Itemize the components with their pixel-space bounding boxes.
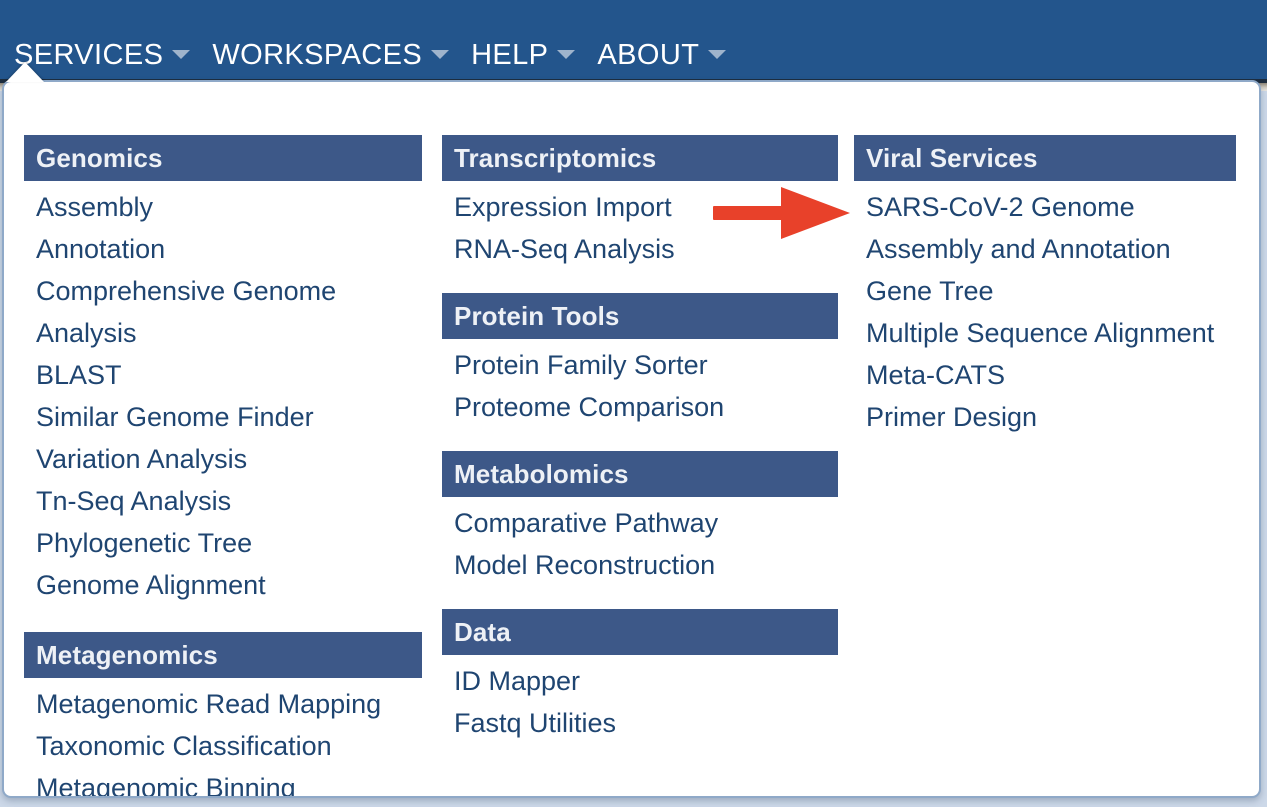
service-group-metagenomics-title: Metagenomics	[24, 632, 422, 678]
service-link-assembly[interactable]: Assembly	[24, 186, 422, 228]
service-link-rna-seq-analysis[interactable]: RNA-Seq Analysis	[442, 228, 838, 270]
services-column-3: Viral Services SARS-CoV-2 Genome Assembl…	[854, 135, 1236, 464]
service-link-protein-family-sorter[interactable]: Protein Family Sorter	[442, 344, 838, 386]
service-link-fastq-utilities[interactable]: Fastq Utilities	[442, 702, 838, 744]
service-link-analysis[interactable]: Analysis	[24, 312, 422, 354]
service-group-transcriptomics-items: Expression Import RNA-Seq Analysis	[442, 181, 838, 270]
service-group-genomics: Genomics Assembly Annotation Comprehensi…	[24, 135, 422, 606]
services-columns: Genomics Assembly Annotation Comprehensi…	[4, 82, 1259, 796]
nav-item-help[interactable]: HELP	[463, 41, 589, 70]
service-link-metagenomic-read-mapping[interactable]: Metagenomic Read Mapping	[24, 683, 422, 725]
top-navigation-bar: SERVICES WORKSPACES HELP ABOUT	[0, 0, 1267, 79]
nav-item-help-label: HELP	[471, 41, 548, 70]
chevron-down-icon	[431, 50, 449, 59]
service-link-proteome-comparison[interactable]: Proteome Comparison	[442, 386, 838, 428]
service-link-metagenomic-binning[interactable]: Metagenomic Binning	[24, 767, 422, 798]
nav-item-about-label: ABOUT	[597, 41, 699, 70]
service-link-phylogenetic-tree[interactable]: Phylogenetic Tree	[24, 522, 422, 564]
service-group-transcriptomics-title: Transcriptomics	[442, 135, 838, 181]
service-group-metagenomics: Metagenomics Metagenomic Read Mapping Ta…	[24, 632, 422, 798]
service-group-transcriptomics: Transcriptomics Expression Import RNA-Se…	[442, 135, 838, 270]
service-group-data-items: ID Mapper Fastq Utilities	[442, 655, 838, 744]
service-link-sars-cov-2-genome[interactable]: SARS-CoV-2 Genome	[854, 186, 1236, 228]
nav-item-list: SERVICES WORKSPACES HELP ABOUT	[0, 41, 740, 70]
service-link-annotation[interactable]: Annotation	[24, 228, 422, 270]
services-column-1: Genomics Assembly Annotation Comprehensi…	[24, 135, 422, 798]
service-link-variation-analysis[interactable]: Variation Analysis	[24, 438, 422, 480]
service-group-genomics-title: Genomics	[24, 135, 422, 181]
nav-item-about[interactable]: ABOUT	[589, 41, 740, 70]
chevron-down-icon	[557, 50, 575, 59]
chevron-down-icon	[708, 50, 726, 59]
service-link-taxonomic-classification[interactable]: Taxonomic Classification	[24, 725, 422, 767]
service-link-genome-alignment[interactable]: Genome Alignment	[24, 564, 422, 606]
service-group-protein-tools-items: Protein Family Sorter Proteome Compariso…	[442, 339, 838, 428]
service-group-viral-services-items: SARS-CoV-2 Genome Assembly and Annotatio…	[854, 181, 1236, 438]
service-group-metagenomics-items: Metagenomic Read Mapping Taxonomic Class…	[24, 678, 422, 798]
service-group-metabolomics-items: Comparative Pathway Model Reconstruction	[442, 497, 838, 586]
service-link-expression-import[interactable]: Expression Import	[442, 186, 838, 228]
chevron-down-icon	[172, 50, 190, 59]
service-link-gene-tree[interactable]: Gene Tree	[854, 270, 1236, 312]
service-group-data-title: Data	[442, 609, 838, 655]
service-link-comparative-pathway[interactable]: Comparative Pathway	[442, 502, 838, 544]
service-link-tn-seq-analysis[interactable]: Tn-Seq Analysis	[24, 480, 422, 522]
service-group-metabolomics-title: Metabolomics	[442, 451, 838, 497]
service-group-metabolomics: Metabolomics Comparative Pathway Model R…	[442, 451, 838, 586]
services-dropdown-panel: Genomics Assembly Annotation Comprehensi…	[2, 80, 1261, 798]
service-link-id-mapper[interactable]: ID Mapper	[442, 660, 838, 702]
service-link-assembly-and-annotation[interactable]: Assembly and Annotation	[854, 228, 1236, 270]
service-link-comprehensive-genome[interactable]: Comprehensive Genome	[24, 270, 422, 312]
services-column-2: Transcriptomics Expression Import RNA-Se…	[442, 135, 838, 767]
service-link-meta-cats[interactable]: Meta-CATS	[854, 354, 1236, 396]
service-link-multiple-sequence-alignment[interactable]: Multiple Sequence Alignment	[854, 312, 1236, 354]
service-link-model-reconstruction[interactable]: Model Reconstruction	[442, 544, 838, 586]
service-link-primer-design[interactable]: Primer Design	[854, 396, 1236, 438]
dropdown-pointer-triangle	[6, 62, 44, 82]
service-group-data: Data ID Mapper Fastq Utilities	[442, 609, 838, 744]
nav-item-workspaces[interactable]: WORKSPACES	[204, 41, 463, 70]
nav-item-workspaces-label: WORKSPACES	[212, 41, 422, 70]
service-group-viral-services-title: Viral Services	[854, 135, 1236, 181]
service-group-protein-tools: Protein Tools Protein Family Sorter Prot…	[442, 293, 838, 428]
service-link-similar-genome-finder[interactable]: Similar Genome Finder	[24, 396, 422, 438]
service-group-genomics-items: Assembly Annotation Comprehensive Genome…	[24, 181, 422, 606]
service-link-blast[interactable]: BLAST	[24, 354, 422, 396]
service-group-protein-tools-title: Protein Tools	[442, 293, 838, 339]
service-group-viral-services: Viral Services SARS-CoV-2 Genome Assembl…	[854, 135, 1236, 438]
